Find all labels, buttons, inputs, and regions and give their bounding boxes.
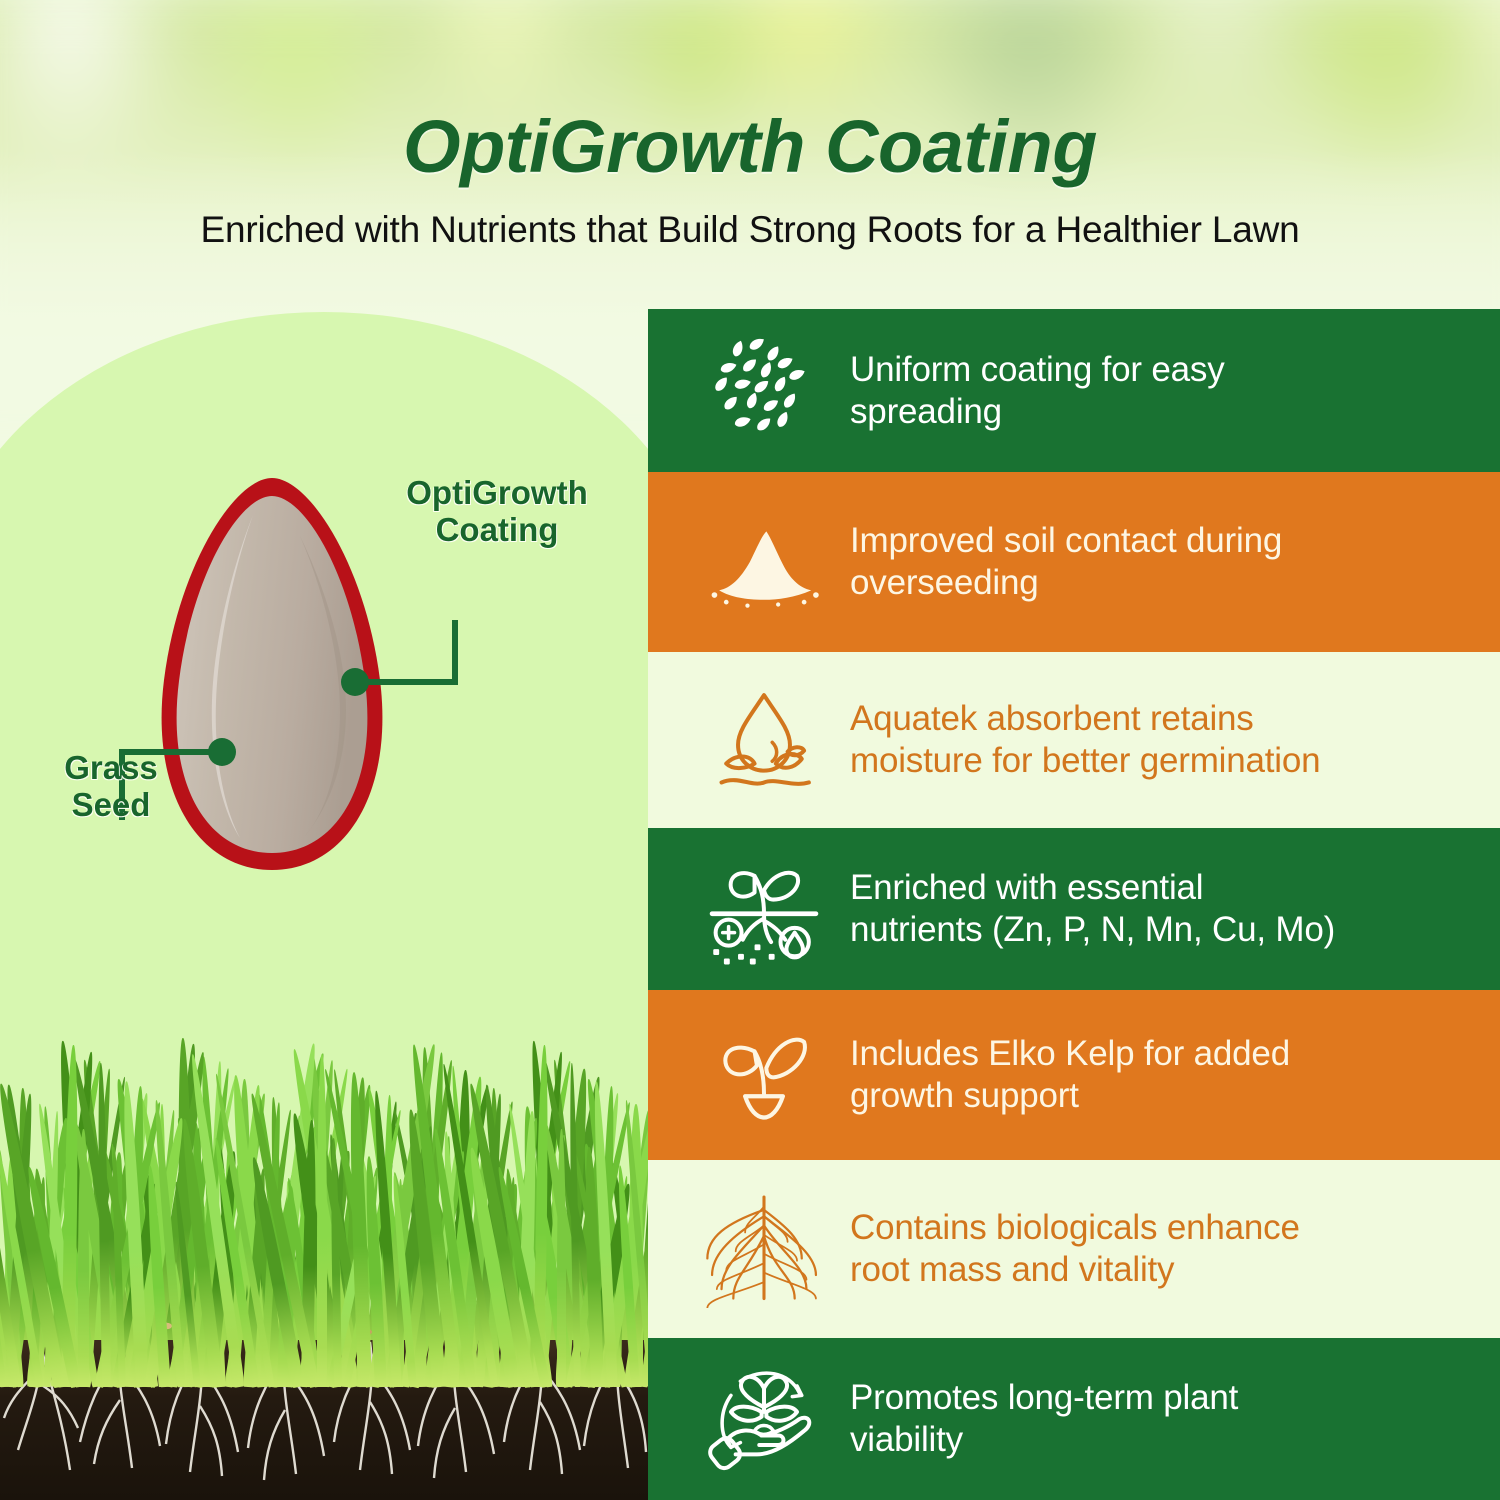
grass-and-roots-photo [0, 935, 648, 1500]
features-list: Uniform coating for easyspreadingImprove… [648, 309, 1500, 1500]
seed-diagram-panel: OptiGrowth Coating Grass Seed [0, 300, 648, 1500]
feature-text-line1: Enriched with essential [850, 867, 1335, 909]
water-droplet-absorb-icon [702, 678, 826, 802]
sprout-in-pot-icon [702, 1013, 826, 1137]
page-subtitle: Enriched with Nutrients that Build Stron… [0, 209, 1500, 251]
feature-row-1: Uniform coating for easyspreading [648, 309, 1500, 472]
feature-text-6: Contains biologicals enhanceroot mass an… [850, 1207, 1300, 1291]
feature-text-line2: root mass and vitality [850, 1249, 1300, 1291]
feature-text-5: Includes Elko Kelp for addedgrowth suppo… [850, 1033, 1290, 1117]
feature-row-2: Improved soil contact duringoverseeding [648, 472, 1500, 652]
feature-row-6: Contains biologicals enhanceroot mass an… [648, 1160, 1500, 1338]
feature-text-line1: Includes Elko Kelp for added [850, 1033, 1290, 1075]
label-optigrowth-coating: OptiGrowth Coating [372, 475, 622, 549]
feature-text-line2: growth support [850, 1075, 1290, 1117]
feature-text-line2: spreading [850, 391, 1225, 433]
feature-text-3: Aquatek absorbent retainsmoisture for be… [850, 698, 1320, 782]
feature-text-line1: Contains biologicals enhance [850, 1207, 1300, 1249]
feature-text-line2: overseeding [850, 562, 1282, 604]
label-grass-seed: Grass Seed [36, 750, 186, 824]
label-coating-line1: OptiGrowth [406, 474, 587, 511]
feature-text-line1: Uniform coating for easy [850, 349, 1225, 391]
feature-text-line2: viability [850, 1419, 1238, 1461]
seedling-soil-nutrients-icon [702, 847, 826, 971]
feature-row-7: Promotes long-term plantviability [648, 1338, 1500, 1500]
diagram-labels: OptiGrowth Coating Grass Seed [0, 300, 648, 1000]
feature-text-7: Promotes long-term plantviability [850, 1377, 1238, 1461]
feature-text-line2: nutrients (Zn, P, N, Mn, Cu, Mo) [850, 909, 1335, 951]
page-title: OptiGrowth Coating [0, 104, 1500, 189]
label-coating-line2: Coating [436, 511, 559, 548]
feature-text-4: Enriched with essentialnutrients (Zn, P,… [850, 867, 1335, 951]
feature-row-3: Aquatek absorbent retainsmoisture for be… [648, 652, 1500, 828]
feature-text-1: Uniform coating for easyspreading [850, 349, 1225, 433]
label-seed-line2: Seed [72, 786, 151, 823]
seed-scatter-icon [702, 329, 826, 453]
root-system-icon [702, 1187, 826, 1311]
header: OptiGrowth Coating Enriched with Nutrien… [0, 0, 1500, 251]
powder-mound-icon [702, 500, 826, 624]
feature-row-5: Includes Elko Kelp for addedgrowth suppo… [648, 990, 1500, 1160]
feature-text-line2: moisture for better germination [850, 740, 1320, 782]
feature-text-line1: Aquatek absorbent retains [850, 698, 1320, 740]
hand-heart-plant-icon [702, 1357, 826, 1481]
feature-text-line1: Improved soil contact during [850, 520, 1282, 562]
feature-text-2: Improved soil contact duringoverseeding [850, 520, 1282, 604]
label-seed-line1: Grass [64, 749, 158, 786]
feature-row-4: Enriched with essentialnutrients (Zn, P,… [648, 828, 1500, 990]
feature-text-line1: Promotes long-term plant [850, 1377, 1238, 1419]
